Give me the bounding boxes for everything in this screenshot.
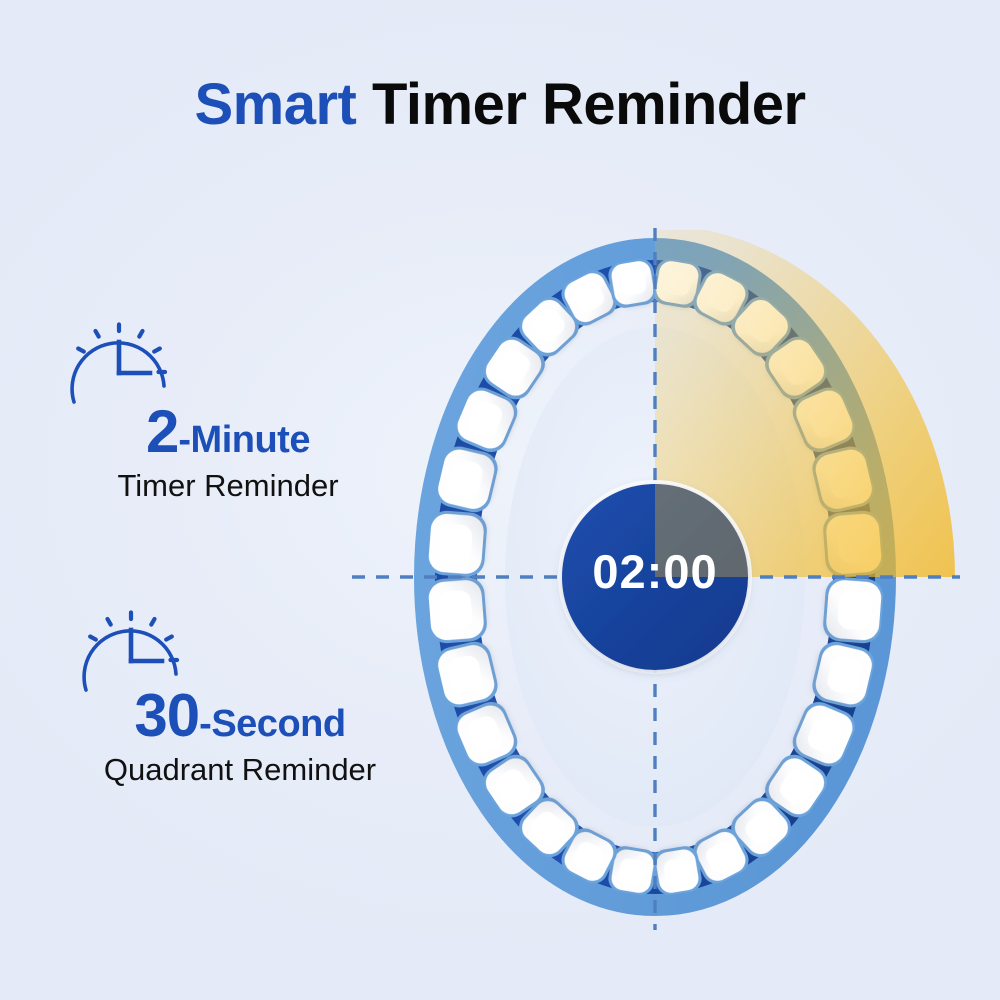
feature-headline: 2-Minute <box>28 402 428 462</box>
tooth <box>822 576 885 645</box>
feature-headline: 30-Second <box>40 686 440 746</box>
feature-number: 30 <box>134 682 199 749</box>
tooth <box>651 844 704 897</box>
poster-canvas: Smart Timer Reminder <box>0 0 1000 1000</box>
tooth <box>606 257 659 310</box>
feature-number: 2 <box>146 398 178 465</box>
feature-description: Timer Reminder <box>28 470 428 501</box>
feature-unit: -Minute <box>178 419 310 461</box>
feature-description: Quadrant Reminder <box>40 754 440 785</box>
timer-disc <box>558 480 752 674</box>
tooth <box>425 576 488 645</box>
feature-unit: -Second <box>199 703 345 745</box>
tooth <box>425 510 488 579</box>
